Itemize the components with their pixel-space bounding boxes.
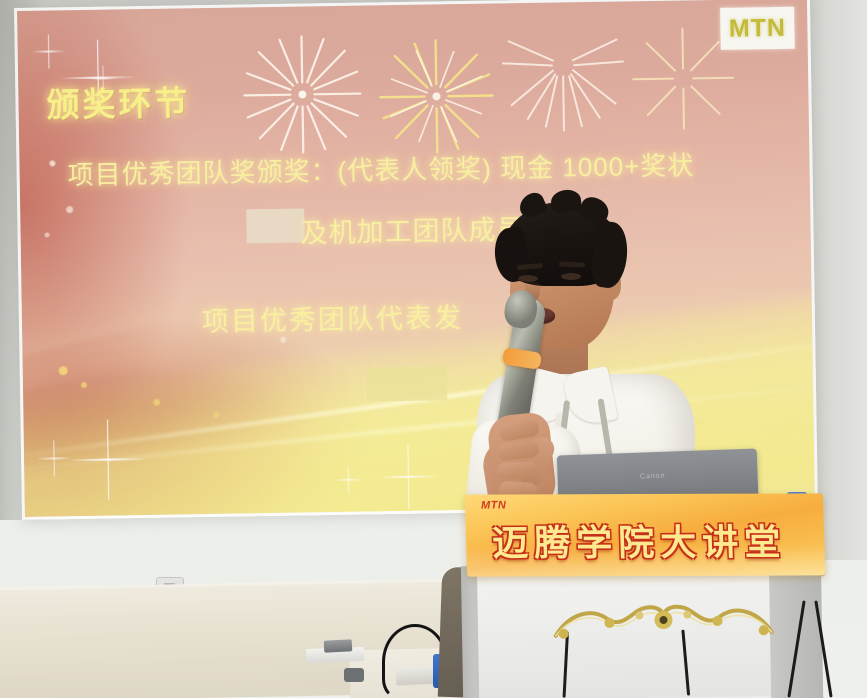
laptop-brand-text: Canon	[640, 473, 666, 481]
desk-device	[324, 639, 353, 652]
sparkle-dot	[59, 366, 68, 375]
podium-banner: MTN 迈腾学院大讲堂	[465, 493, 826, 576]
sparkle-dot	[66, 206, 73, 213]
firework-icon	[365, 25, 507, 167]
finger	[497, 461, 540, 479]
slide-bullet-line-3: 项目优秀团队代表发	[202, 296, 464, 339]
firework-icon	[487, 5, 639, 157]
sparkle-dot	[81, 382, 87, 388]
hair	[550, 188, 583, 214]
photo-scene: MTN 颁奖环节 项目优秀团队奖颁奖：(代表人领奖) 现金 1000+奖状 及机…	[0, 0, 867, 698]
slide-title: 颁奖环节	[46, 76, 191, 126]
desk-device	[344, 668, 364, 682]
sparkle-dot	[45, 232, 50, 237]
banner-title-text: 迈腾学院大讲堂	[491, 514, 787, 567]
slide-mtn-logo: MTN	[720, 7, 795, 50]
podium-ornament	[547, 598, 779, 698]
sparkle-dot	[213, 412, 219, 418]
banner-mtn-logo: MTN	[481, 499, 507, 511]
redaction-box	[367, 366, 448, 401]
eye	[561, 273, 581, 280]
sparkle-dot	[49, 160, 55, 166]
ornament-scroll-icon	[547, 598, 778, 662]
redaction-box	[246, 208, 305, 243]
slide-mtn-logo-text: MTN	[729, 13, 787, 43]
sparkle-dot	[153, 399, 160, 406]
